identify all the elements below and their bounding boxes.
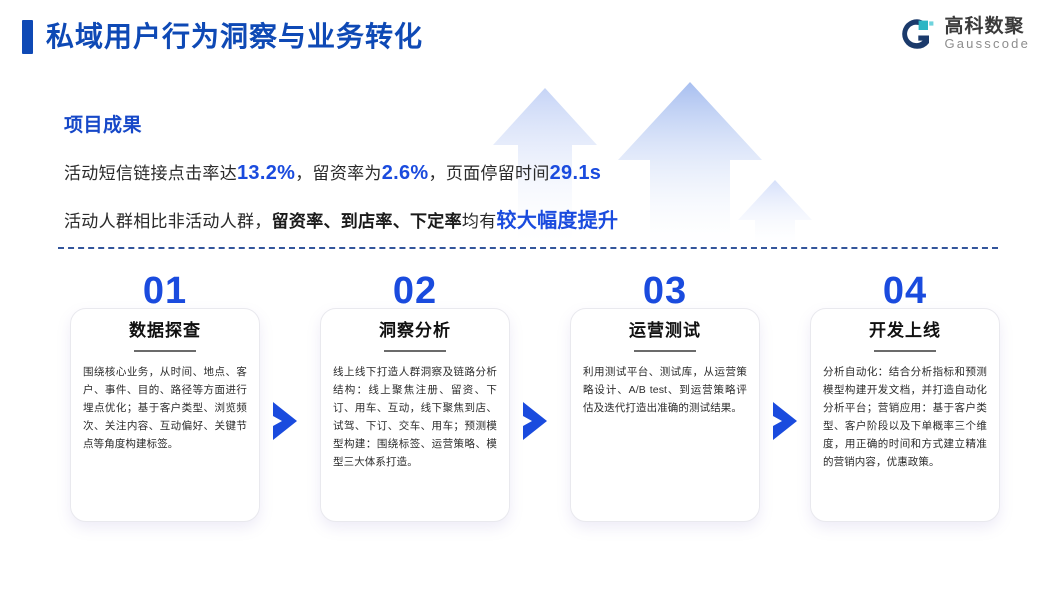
slide-root: 私域用户行为洞察与业务转化 高科数聚 Gausscode 项目成果 活动短信链接… bbox=[0, 0, 1048, 591]
step-desc-03: 利用测试平台、测试库，从运营策略设计、A/B test、到运营策略评估及迭代打造… bbox=[583, 363, 747, 417]
results-l2-text-2: 均有 bbox=[462, 212, 497, 231]
step-title-04: 开发上线 bbox=[823, 322, 987, 341]
step-desc-02: 线上线下打造人群洞察及链路分析结构：线上聚焦注册、留资、下订、用车、互动，线下聚… bbox=[333, 363, 497, 471]
process-steps: 01 数据探查 围绕核心业务，从时间、地点、客户、事件、目的、路径等方面进行埋点… bbox=[0, 272, 1048, 532]
results-heading: 项目成果 bbox=[64, 110, 764, 137]
step-card-03[interactable]: 03 运营测试 利用测试平台、测试库，从运营策略设计、A/B test、到运营策… bbox=[570, 272, 760, 522]
step-number-02: 02 bbox=[320, 272, 510, 310]
step-card-04[interactable]: 04 开发上线 分析自动化：结合分析指标和预测模型构建开发文档，并打造自动化分析… bbox=[810, 272, 1000, 522]
results-dwelltime-value: 29.1s bbox=[550, 162, 602, 184]
step-title-02: 洞察分析 bbox=[333, 322, 497, 341]
step-rule-03 bbox=[634, 350, 696, 352]
chevron-right-icon-1 bbox=[270, 400, 300, 442]
step-number-01: 01 bbox=[70, 272, 260, 310]
step-desc-01: 围绕核心业务，从时间、地点、客户、事件、目的、路径等方面进行埋点优化；基于客户类… bbox=[83, 363, 247, 453]
page-title: 私域用户行为洞察与业务转化 bbox=[22, 20, 423, 54]
results-line-1: 活动短信链接点击率达13.2%，留资率为2.6%，页面停留时间29.1s bbox=[64, 159, 764, 187]
results-l2-text-1: 活动人群相比非活动人群， bbox=[64, 212, 272, 231]
step-rule-01 bbox=[134, 350, 196, 352]
logo-text: 高科数聚 Gausscode bbox=[944, 17, 1030, 51]
chevron-right-icon-2 bbox=[520, 400, 550, 442]
logo-cn-text: 高科数聚 bbox=[944, 17, 1030, 37]
title-accent-bar bbox=[22, 20, 33, 54]
step-number-03: 03 bbox=[570, 272, 760, 310]
brand-logo: 高科数聚 Gausscode bbox=[899, 16, 1030, 52]
step-rule-04 bbox=[874, 350, 936, 352]
step-number-04: 04 bbox=[810, 272, 1000, 310]
results-ctr-value: 13.2% bbox=[237, 162, 295, 184]
step-title-01: 数据探查 bbox=[83, 322, 247, 341]
results-metrics-list: 留资率、到店率、下定率 bbox=[272, 212, 462, 231]
gausscode-logo-icon bbox=[899, 16, 935, 52]
step-title-03: 运营测试 bbox=[583, 322, 747, 341]
step-body-04[interactable]: 开发上线 分析自动化：结合分析指标和预测模型构建开发文档，并打造自动化分析平台；… bbox=[810, 308, 1000, 522]
logo-en-text: Gausscode bbox=[944, 37, 1030, 51]
results-l1-text-3: ，页面停留时间 bbox=[429, 164, 550, 183]
step-body-01[interactable]: 数据探查 围绕核心业务，从时间、地点、客户、事件、目的、路径等方面进行埋点优化；… bbox=[70, 308, 260, 522]
results-leadrate-value: 2.6% bbox=[382, 162, 429, 184]
step-card-01[interactable]: 01 数据探查 围绕核心业务，从时间、地点、客户、事件、目的、路径等方面进行埋点… bbox=[70, 272, 260, 522]
chevron-right-icon-3 bbox=[770, 400, 800, 442]
title-text: 私域用户行为洞察与业务转化 bbox=[46, 23, 423, 51]
step-body-02[interactable]: 洞察分析 线上线下打造人群洞察及链路分析结构：线上聚焦注册、留资、下订、用车、互… bbox=[320, 308, 510, 522]
step-card-02[interactable]: 02 洞察分析 线上线下打造人群洞察及链路分析结构：线上聚焦注册、留资、下订、用… bbox=[320, 272, 510, 522]
results-uplift-phrase: 较大幅度提升 bbox=[497, 210, 619, 232]
project-results-block: 项目成果 活动短信链接点击率达13.2%，留资率为2.6%，页面停留时间29.1… bbox=[64, 110, 764, 255]
step-desc-04: 分析自动化：结合分析指标和预测模型构建开发文档，并打造自动化分析平台；营销应用：… bbox=[823, 363, 987, 471]
results-l1-text-1: 活动短信链接点击率达 bbox=[64, 164, 237, 183]
step-body-03[interactable]: 运营测试 利用测试平台、测试库，从运营策略设计、A/B test、到运营策略评估… bbox=[570, 308, 760, 522]
step-rule-02 bbox=[384, 350, 446, 352]
slide-header: 私域用户行为洞察与业务转化 高科数聚 Gausscode bbox=[0, 0, 1048, 78]
results-l1-text-2: ，留资率为 bbox=[295, 164, 382, 183]
results-line-2: 活动人群相比非活动人群，留资率、到店率、下定率均有较大幅度提升 bbox=[64, 207, 764, 235]
